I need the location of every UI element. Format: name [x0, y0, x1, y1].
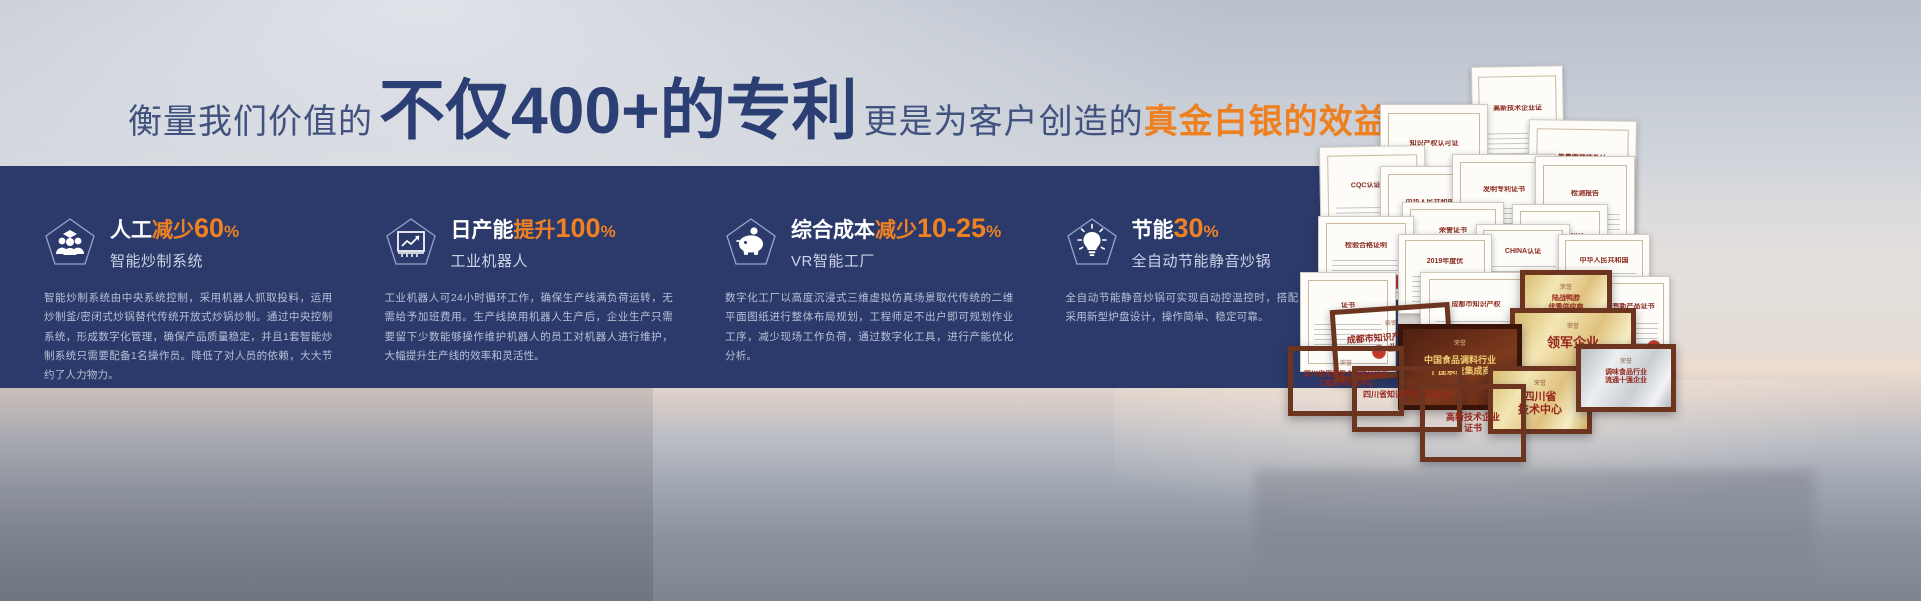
feature-title: 综合成本减少10-25% — [791, 214, 1001, 244]
feature-title-highlight: 减少 — [875, 219, 917, 242]
people-group-icon — [44, 216, 96, 268]
headline: 衡量我们价值的 不仅400+的专利 更是为客户创造的 真金白银的效益 — [128, 77, 1389, 143]
feature-body: 全自动节能静音炒锅可实现自动控温控时，搭配人机界面，采用新型炉盘设计，操作简单、… — [1066, 289, 1355, 328]
headline-highlight: 真金白银的效益 — [1144, 94, 1389, 143]
feature-text: 综合成本减少10-25%VR智能工厂 — [791, 214, 1001, 271]
feature-body: 工业机器人可24小时循环工作，确保生产线满负荷运转，无需给予加班费用。生产线换用… — [385, 289, 674, 367]
feature-text: 人工减少60%智能炒制系统 — [110, 214, 239, 271]
feature-item-2: 日产能提升100%工业机器人工业机器人可24小时循环工作，确保生产线满负荷运转，… — [359, 166, 700, 388]
feature-title-number: 10-25 — [917, 213, 986, 243]
feature-title-prefix: 综合成本 — [791, 219, 875, 242]
feature-title-prefix: 节能 — [1132, 219, 1174, 242]
feature-title-number: 100 — [556, 213, 601, 243]
feature-header: 人工减少60%智能炒制系统 — [44, 214, 333, 271]
headline-emphasis: 不仅400+的专利 — [379, 77, 858, 143]
feature-title-highlight: 减少 — [152, 219, 194, 242]
feature-header: 日产能提升100%工业机器人 — [385, 214, 674, 271]
feature-list: 人工减少60%智能炒制系统智能炒制系统由中央系统控制，采用机器人抓取投料，运用炒… — [0, 166, 1398, 388]
feature-title-unit: % — [986, 222, 1001, 241]
feature-body: 智能炒制系统由中央系统控制，采用机器人抓取投料，运用炒制釜/密闭式炒锅替代传统开… — [44, 289, 333, 386]
feature-title-number: 60 — [194, 213, 224, 243]
feature-title-prefix: 人工 — [110, 219, 152, 242]
piggy-bank-icon — [725, 216, 777, 268]
lightbulb-icon — [1066, 216, 1118, 268]
feature-title-highlight: 提升 — [514, 219, 556, 242]
feature-title: 日产能提升100% — [451, 214, 616, 244]
feature-subtitle: VR智能工厂 — [791, 250, 1001, 271]
feature-title-unit: % — [224, 222, 239, 241]
feature-header: 节能30%全自动节能静音炒锅 — [1066, 214, 1355, 271]
feature-title-unit: % — [1204, 222, 1219, 241]
feature-item-1: 人工减少60%智能炒制系统智能炒制系统由中央系统控制，采用机器人抓取投料，运用炒… — [18, 166, 359, 388]
feature-title-unit: % — [601, 222, 616, 241]
background-sea-shadow — [0, 372, 653, 601]
feature-item-3: 综合成本减少10-25%VR智能工厂数字化工厂以高度沉浸式三维虚拟仿真场景取代传… — [699, 166, 1040, 388]
headline-prefix: 衡量我们价值的 — [128, 94, 373, 143]
headline-middle: 更是为客户创造的 — [864, 94, 1144, 143]
feature-item-4: 节能30%全自动节能静音炒锅全自动节能静音炒锅可实现自动控温控时，搭配人机界面，… — [1040, 166, 1381, 388]
feature-text: 节能30%全自动节能静音炒锅 — [1132, 214, 1272, 271]
feature-panel: 人工减少60%智能炒制系统智能炒制系统由中央系统控制，采用机器人抓取投料，运用炒… — [0, 166, 1398, 388]
promo-banner: 衡量我们价值的 不仅400+的专利 更是为客户创造的 真金白银的效益 人工减少6… — [0, 0, 1921, 601]
chart-board-icon — [385, 216, 437, 268]
feature-title: 人工减少60% — [110, 214, 239, 244]
feature-title: 节能30% — [1132, 214, 1272, 244]
feature-header: 综合成本减少10-25%VR智能工厂 — [725, 214, 1014, 271]
feature-subtitle: 全自动节能静音炒锅 — [1132, 250, 1272, 271]
feature-subtitle: 工业机器人 — [451, 250, 616, 271]
feature-body: 数字化工厂以高度沉浸式三维虚拟仿真场景取代传统的二维平面图纸进行整体布局规划，工… — [725, 289, 1014, 367]
feature-title-number: 30 — [1174, 213, 1204, 243]
feature-subtitle: 智能炒制系统 — [110, 250, 239, 271]
feature-text: 日产能提升100%工业机器人 — [451, 214, 616, 271]
background-sea-highlight — [1114, 380, 1921, 530]
feature-title-prefix: 日产能 — [451, 219, 514, 242]
